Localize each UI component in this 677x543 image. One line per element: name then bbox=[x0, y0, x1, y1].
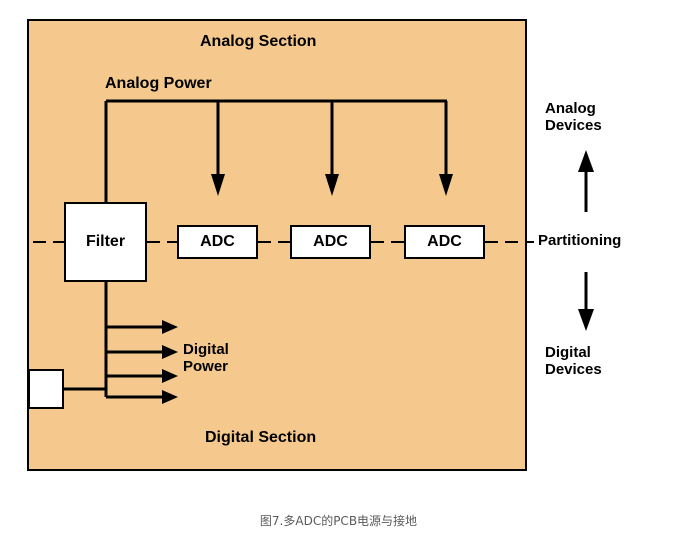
digital-section-label: Digital Section bbox=[205, 429, 316, 447]
adc-box-2: ADC bbox=[290, 225, 371, 259]
filter-box: Filter bbox=[64, 202, 147, 282]
ground-stub-box bbox=[28, 369, 64, 409]
analog-power-label: Analog Power bbox=[105, 75, 212, 93]
partitioning-label: Partitioning bbox=[538, 232, 621, 249]
figure-caption: 图7.多ADC的PCB电源与接地 bbox=[0, 512, 677, 529]
digital-power-label: Digital Power bbox=[183, 341, 229, 376]
digital-devices-label: Digital Devices bbox=[545, 344, 602, 379]
analog-section-label: Analog Section bbox=[200, 33, 316, 51]
adc-box-1: ADC bbox=[177, 225, 258, 259]
analog-devices-label: Analog Devices bbox=[545, 100, 602, 135]
adc-box-3: ADC bbox=[404, 225, 485, 259]
diagram-canvas: Analog Section Analog Power Digital Powe… bbox=[0, 0, 677, 543]
